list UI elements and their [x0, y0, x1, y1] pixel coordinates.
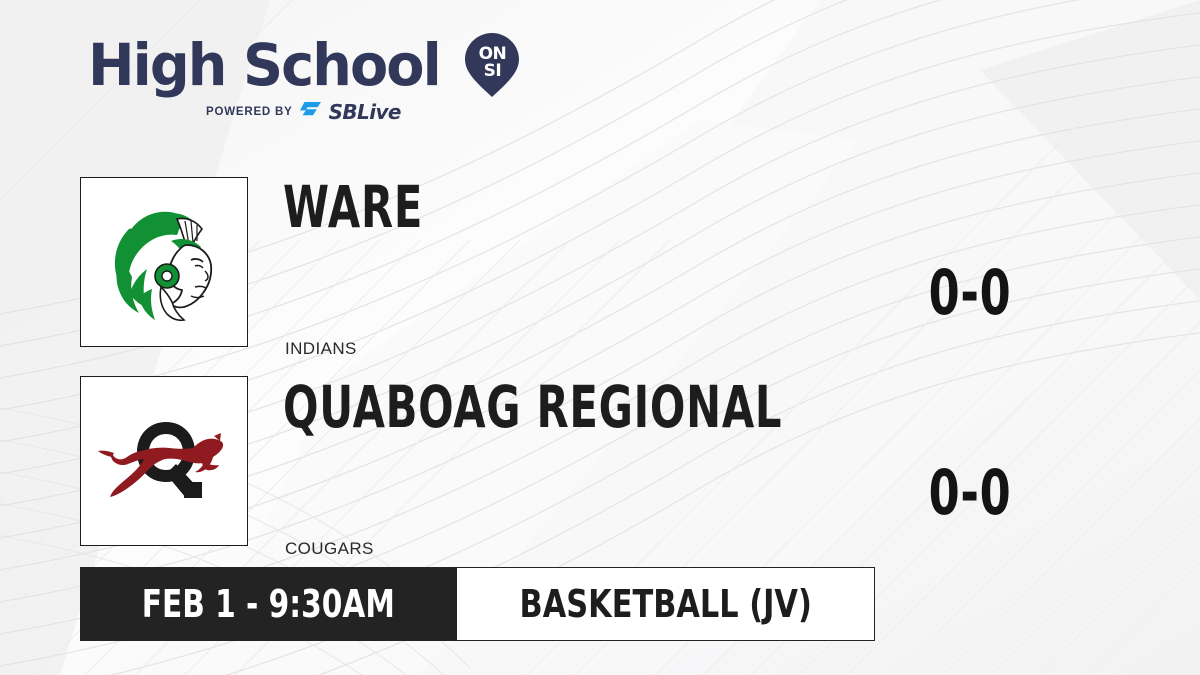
game-datetime-text: FEB 1 - 9:30AM: [142, 585, 395, 623]
game-info-bar: FEB 1 - 9:30AM BASKETBALL (JV): [80, 567, 875, 641]
game-sport-block: BASKETBALL (JV): [457, 567, 875, 641]
team-name-quaboag-regional: QUABOAG REGIONAL: [283, 378, 782, 436]
brand-lockup: High School ON SI POWERED BY SBLive: [88, 32, 520, 122]
powered-by-label: POWERED BY: [206, 106, 293, 118]
team-logo-box-quaboag[interactable]: [80, 376, 248, 546]
pin-label-si: SI: [464, 63, 520, 80]
ware-indians-logo: [99, 197, 229, 327]
sblive-wordmark: SBLive: [329, 102, 401, 122]
team-record-quaboag-regional: 0-0: [891, 462, 1049, 524]
game-datetime-block: FEB 1 - 9:30AM: [80, 567, 457, 641]
sblive-wordmark-upper: SBL: [329, 100, 370, 124]
team-mascot-cougars: COUGARS: [285, 539, 374, 559]
sblive-wordmark-lower: ive: [369, 100, 401, 124]
team-record-ware: 0-0: [891, 262, 1049, 324]
matchup-graphic: High School ON SI POWERED BY SBLive: [0, 0, 1200, 675]
powered-by-row: POWERED BY SBLive: [206, 102, 520, 122]
team-name-ware: WARE: [283, 178, 423, 236]
page-title: High School: [88, 36, 440, 94]
sblive-bolt-icon: [300, 102, 322, 122]
game-sport-text: BASKETBALL (JV): [519, 585, 811, 623]
team-mascot-indians: INDIANS: [285, 339, 357, 359]
brand-row: High School ON SI: [88, 32, 520, 98]
team-logo-box-ware[interactable]: [80, 177, 248, 347]
on-si-pin-icon: ON SI: [464, 32, 520, 98]
quaboag-cougars-logo: [94, 406, 234, 516]
